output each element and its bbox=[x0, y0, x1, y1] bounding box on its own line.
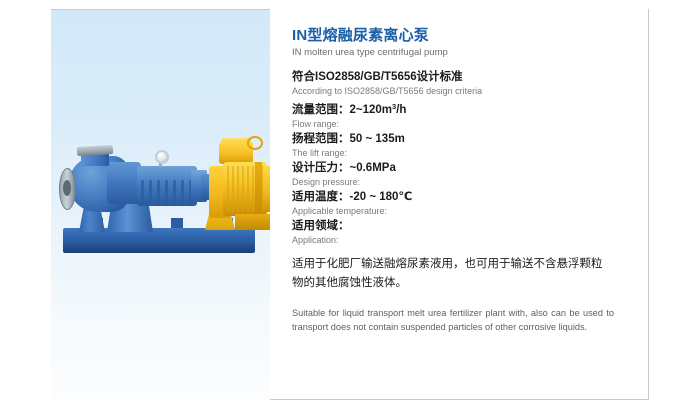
motor-fan-cowl bbox=[263, 166, 270, 212]
spec-flow-range: 流量范围：2~120m3/h Flow range: bbox=[292, 99, 630, 130]
baseplate-edge bbox=[63, 245, 255, 253]
flow-range-text: 流量范围：2~120m bbox=[292, 104, 392, 116]
spec-lift-range: 扬程范围：50 ~ 135m The lift range: bbox=[292, 132, 630, 159]
application-label-en: Application: bbox=[292, 234, 630, 246]
lift-range-value-cn: 扬程范围：50 ~ 135m bbox=[292, 132, 630, 147]
standard-label-en: According to ISO2858/GB/T5656 design cri… bbox=[292, 85, 630, 97]
motor-foot bbox=[235, 214, 270, 230]
discharge-flange bbox=[77, 145, 113, 156]
motor-end-ring bbox=[255, 162, 262, 216]
spec-design-pressure: 设计压力：~0.6MPa Design pressure: bbox=[292, 161, 630, 188]
design-pressure-value-cn: 设计压力：~0.6MPa bbox=[292, 161, 630, 176]
flow-range-label-en: Flow range: bbox=[292, 118, 630, 130]
flow-range-value-cn: 流量范围：2~120m3/h bbox=[292, 99, 630, 118]
product-photo-panel bbox=[51, 9, 270, 400]
spec-application: 适用领域： Application: bbox=[292, 219, 630, 246]
casing-neck bbox=[107, 162, 141, 204]
standard-label-cn: 符合ISO2858/GB/T5656设计标准 bbox=[292, 70, 630, 85]
product-title-en: IN molten urea type centrifugal pump bbox=[292, 46, 630, 59]
applicable-temperature-label-en: Applicable temperature: bbox=[292, 205, 630, 217]
application-value-cn: 适用领域： bbox=[292, 219, 630, 234]
lift-range-label-en: The lift range: bbox=[292, 147, 630, 159]
specification-panel: IN型熔融尿素离心泵 IN molten urea type centrifug… bbox=[270, 9, 648, 399]
constant-level-oiler-icon bbox=[155, 150, 169, 164]
flow-range-unit-tail: /h bbox=[396, 104, 406, 116]
design-pressure-label-en: Design pressure: bbox=[292, 176, 630, 188]
motor-lifting-eye-icon bbox=[247, 136, 263, 150]
description-cn: 适用于化肥厂输送融熔尿素液用，也可用于输送不含悬浮颗粒物的其他腐蚀性液体。 bbox=[292, 255, 610, 293]
product-title-cn: IN型熔融尿素离心泵 bbox=[292, 27, 630, 45]
product-card: IN型熔融尿素离心泵 IN molten urea type centrifug… bbox=[51, 9, 649, 400]
suction-flange-hub bbox=[63, 180, 71, 196]
applicable-temperature-value-cn: 适用温度：-20 ~ 180℃ bbox=[292, 190, 630, 205]
bearing-housing-ribs bbox=[139, 180, 195, 206]
description-en: Suitable for liquid transport melt urea … bbox=[292, 306, 614, 334]
pump-illustration bbox=[51, 122, 270, 272]
spec-standard: 符合ISO2858/GB/T5656设计标准 According to ISO2… bbox=[292, 70, 630, 97]
spec-applicable-temperature: 适用温度：-20 ~ 180℃ Applicable temperature: bbox=[292, 190, 630, 217]
